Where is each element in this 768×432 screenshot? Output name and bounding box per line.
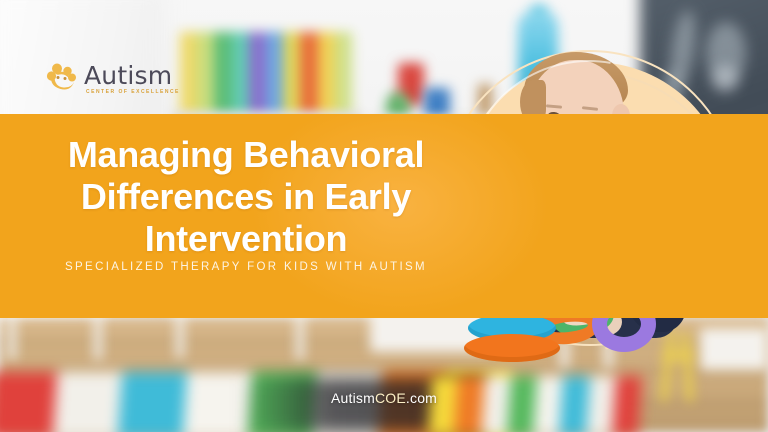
page-subtitle: SPECIALIZED THERAPY FOR KIDS WITH AUTISM [46,261,446,273]
brand-name: Autism [84,61,172,90]
site-url-highlight: COE [375,390,406,406]
marketing-banner-image: Managing Behavioral Differences in Early… [0,0,768,432]
site-url-suffix: .com [406,390,437,406]
brand-tagline: CENTER OF EXCELLENCE [86,89,180,95]
toy-teal-cap [530,4,548,20]
color-strip [335,32,352,116]
color-strip [266,32,283,116]
color-strip [249,32,266,116]
color-strip [300,32,317,116]
site-url-prefix: Autism [331,390,375,406]
color-strip [214,32,231,116]
page-title: Managing Behavioral Differences in Early… [46,134,446,260]
puzzle-child-icon [46,62,80,96]
toy-ring-orange-base [464,334,560,362]
brand-logo[interactable]: Autism CENTER OF EXCELLENCE [46,60,206,100]
site-url[interactable]: AutismCOE.com [0,390,768,406]
color-strip [283,32,300,116]
color-strip [318,32,335,116]
color-strip [232,32,249,116]
